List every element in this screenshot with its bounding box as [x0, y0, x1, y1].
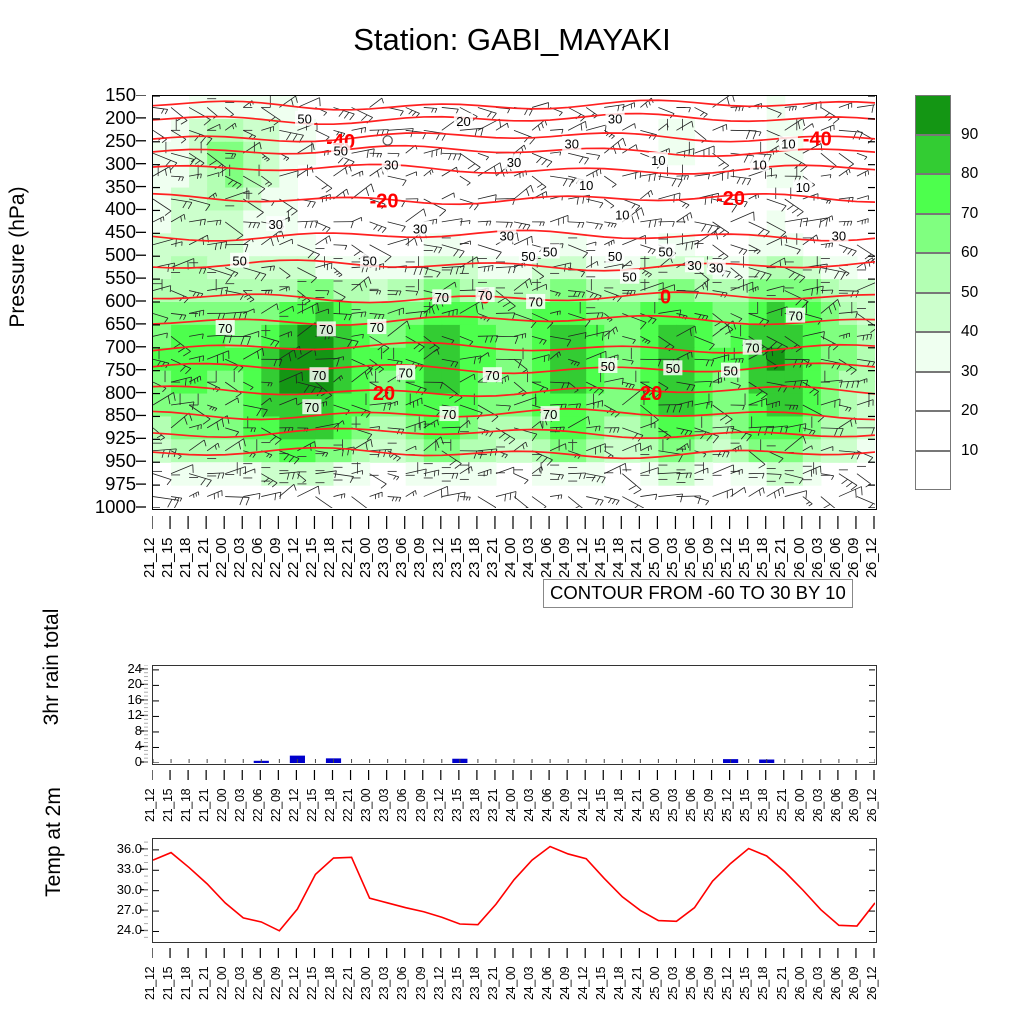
- colorbar-label: 40: [961, 323, 978, 341]
- svg-text:50: 50: [723, 363, 737, 378]
- colorbar-cell: [915, 293, 951, 333]
- time-tick-label: 23_12: [430, 538, 447, 578]
- time-tick-label: 23_21: [486, 789, 500, 822]
- time-tick-label: 21_21: [197, 967, 211, 1000]
- time-tick-label: 23_15: [448, 538, 465, 578]
- pressure-tick-label: 700: [105, 336, 136, 358]
- time-tick-label: 26_09: [845, 538, 862, 578]
- pressure-tick-label: 600: [105, 290, 136, 312]
- svg-text:70: 70: [398, 366, 412, 381]
- time-tick-label: 22_06: [249, 538, 266, 578]
- temp-xtick-marks: [152, 948, 877, 960]
- temp-xtick-labels: 21_1221_1521_1821_2122_0022_0322_0622_09…: [152, 948, 877, 1000]
- svg-text:10: 10: [651, 153, 665, 168]
- time-tick-label: 21_18: [179, 967, 193, 1000]
- time-tick-label: 23_09: [414, 789, 428, 822]
- time-tick-label: 24_15: [594, 967, 608, 1000]
- svg-text:70: 70: [442, 407, 456, 422]
- svg-text:30: 30: [709, 260, 723, 275]
- time-tick-label: 24_12: [576, 789, 590, 822]
- time-tick-label: 26_09: [847, 967, 861, 1000]
- pressure-tick-label: 300: [105, 153, 136, 175]
- time-tick-label: 22_18: [323, 789, 337, 822]
- svg-text:70: 70: [485, 368, 499, 383]
- time-tick-label: 24_00: [502, 538, 519, 578]
- time-tick-label: 21_21: [197, 789, 211, 822]
- time-tick-label: 25_15: [738, 967, 752, 1000]
- colorbar-cell: [915, 95, 951, 135]
- pressure-tick-label: 850: [105, 404, 136, 426]
- time-tick-label: 25_18: [756, 967, 770, 1000]
- svg-text:70: 70: [312, 368, 326, 383]
- svg-text:70: 70: [478, 288, 492, 303]
- svg-text:20: 20: [640, 383, 662, 405]
- colorbar-cell: [915, 253, 951, 293]
- time-tick-label: 21_15: [161, 967, 175, 1000]
- time-tick-label: 22_12: [287, 967, 301, 1000]
- colorbar-cell: [915, 451, 951, 491]
- pressure-tick-label: 500: [105, 244, 136, 266]
- time-tick-label: 26_03: [811, 789, 825, 822]
- time-tick-label: 23_21: [486, 967, 500, 1000]
- svg-text:70: 70: [788, 308, 802, 323]
- pressure-tick-label: 975: [105, 473, 136, 495]
- time-tick-label: 23_18: [466, 538, 483, 578]
- time-tick-label: 25_03: [666, 967, 680, 1000]
- time-tick-label: 24_06: [540, 967, 554, 1000]
- time-tick-label: 22_18: [321, 538, 338, 578]
- time-tick-label: 24_03: [520, 538, 537, 578]
- svg-text:30: 30: [687, 258, 701, 273]
- time-tick-label: 22_15: [305, 789, 319, 822]
- time-tick-label: 25_00: [646, 538, 663, 578]
- time-tick-label: 24_15: [592, 538, 609, 578]
- svg-text:50: 50: [297, 112, 311, 127]
- humidity-colorbar: 908070605040302010: [915, 95, 951, 490]
- time-tick-label: 22_00: [215, 789, 229, 822]
- temp-axis-title: Temp at 2m: [42, 702, 66, 982]
- time-tick-label: 22_09: [267, 538, 284, 578]
- svg-text:30: 30: [413, 221, 427, 236]
- temp-plot-svg: [153, 839, 875, 941]
- time-tick-label: 23_12: [432, 789, 446, 822]
- time-tick-label: 23_00: [359, 789, 373, 822]
- time-tick-label: 24_15: [594, 789, 608, 822]
- time-tick-label: 26_09: [847, 789, 861, 822]
- pressure-tick-label: 150: [105, 84, 136, 106]
- time-tick-label: 25_09: [702, 789, 716, 822]
- time-tick-label: 22_06: [251, 789, 265, 822]
- svg-text:-40: -40: [803, 128, 832, 150]
- time-tick-label: 26_00: [793, 967, 807, 1000]
- time-tick-label: 24_09: [558, 967, 572, 1000]
- time-tick-label: 23_06: [393, 538, 410, 578]
- time-tick-label: 22_21: [341, 789, 355, 822]
- temp-plot-frame: [152, 838, 877, 943]
- rain-xtick-marks: [152, 770, 877, 782]
- svg-text:50: 50: [658, 244, 672, 259]
- colorbar-label: 70: [961, 205, 978, 223]
- time-tick-label: 26_12: [865, 967, 879, 1000]
- svg-text:50: 50: [601, 359, 615, 374]
- main-plot-svg: -40-40-20-200020205050203030303030305050…: [153, 96, 875, 508]
- time-tick-label: 23_12: [432, 967, 446, 1000]
- colorbar-label: 20: [961, 402, 978, 420]
- time-tick-label: 21_15: [159, 538, 176, 578]
- time-tick-label: 26_00: [793, 789, 807, 822]
- time-tick-label: 23_03: [377, 967, 391, 1000]
- time-tick-label: 23_03: [375, 538, 392, 578]
- time-tick-label: 21_15: [161, 789, 175, 822]
- svg-text:30: 30: [832, 228, 846, 243]
- time-tick-label: 26_03: [811, 967, 825, 1000]
- rain-plot-frame: [152, 665, 877, 765]
- rain-tick-label: 4: [135, 738, 142, 753]
- rain-tick-label: 8: [135, 723, 142, 738]
- time-tick-label: 23_21: [484, 538, 501, 578]
- colorbar-label: 50: [961, 284, 978, 302]
- time-tick-label: 24_12: [574, 538, 591, 578]
- svg-text:-20: -20: [370, 191, 399, 213]
- temperature-chart-panel: [152, 838, 877, 943]
- main-xtick-marks: [152, 516, 877, 530]
- time-tick-label: 22_06: [251, 967, 265, 1000]
- temperature-line: [153, 846, 875, 930]
- time-tick-label: 25_09: [702, 967, 716, 1000]
- time-tick-label: 24_21: [630, 967, 644, 1000]
- svg-text:10: 10: [615, 208, 629, 223]
- pressure-tick-label: 400: [105, 198, 136, 220]
- svg-text:30: 30: [565, 137, 579, 152]
- rain-chart-panel: [152, 665, 877, 765]
- time-tick-label: 22_15: [303, 538, 320, 578]
- time-tick-label: 25_21: [775, 789, 789, 822]
- main-plot-frame: -40-40-20-200020205050203030303030305050…: [152, 95, 877, 510]
- time-tick-label: 25_21: [772, 538, 789, 578]
- time-tick-label: 23_18: [468, 789, 482, 822]
- rain-tick-label: 0: [135, 754, 142, 769]
- time-tick-label: 25_12: [720, 967, 734, 1000]
- time-tick-label: 26_06: [827, 538, 844, 578]
- time-tick-label: 21_21: [195, 538, 212, 578]
- time-tick-label: 25_18: [756, 789, 770, 822]
- time-tick-label: 21_12: [143, 789, 157, 822]
- time-tick-label: 22_12: [285, 538, 302, 578]
- time-tick-label: 25_12: [718, 538, 735, 578]
- time-tick-label: 25_18: [754, 538, 771, 578]
- time-tick-label: 26_12: [865, 789, 879, 822]
- time-tick-label: 22_00: [215, 967, 229, 1000]
- colorbar-cell: [915, 174, 951, 214]
- time-tick-label: 23_03: [377, 789, 391, 822]
- time-tick-label: 25_03: [664, 538, 681, 578]
- svg-text:30: 30: [608, 112, 622, 127]
- colorbar-label: 80: [961, 165, 978, 183]
- time-tick-label: 25_09: [700, 538, 717, 578]
- time-tick-label: 25_06: [684, 789, 698, 822]
- time-tick-label: 22_03: [233, 967, 247, 1000]
- main-xtick-labels: 21_1221_1521_1821_2122_0022_0322_0622_09…: [152, 516, 877, 578]
- colorbar-cell: [915, 372, 951, 412]
- time-tick-label: 24_09: [556, 538, 573, 578]
- time-tick-label: 26_03: [809, 538, 826, 578]
- time-tick-label: 22_09: [269, 967, 283, 1000]
- pressure-tick-label: 200: [105, 107, 136, 129]
- colorbar-label: 10: [961, 442, 978, 460]
- time-tick-label: 21_12: [143, 967, 157, 1000]
- svg-text:50: 50: [362, 253, 376, 268]
- pressure-tick-label: 925: [105, 427, 136, 449]
- time-tick-label: 22_00: [213, 538, 230, 578]
- svg-text:10: 10: [796, 180, 810, 195]
- time-tick-label: 25_00: [648, 967, 662, 1000]
- time-tick-label: 23_09: [414, 967, 428, 1000]
- time-tick-label: 24_12: [576, 967, 590, 1000]
- svg-text:50: 50: [622, 270, 636, 285]
- svg-text:10: 10: [752, 157, 766, 172]
- time-tick-label: 23_00: [357, 538, 374, 578]
- colorbar-cell: [915, 332, 951, 372]
- svg-text:0: 0: [660, 287, 671, 309]
- temp-tick-label: 33.0: [117, 861, 142, 876]
- svg-text:50: 50: [666, 361, 680, 376]
- time-tick-label: 24_18: [610, 538, 627, 578]
- rain-tick-label: 12: [128, 707, 142, 722]
- temp-tick-label: 27.0: [117, 902, 142, 917]
- svg-text:-20: -20: [716, 188, 745, 210]
- temp-tick-label: 24.0: [117, 922, 142, 937]
- time-tick-label: 24_03: [522, 967, 536, 1000]
- svg-text:50: 50: [608, 249, 622, 264]
- pressure-tick-label: 750: [105, 359, 136, 381]
- rain-tick-label: 16: [128, 692, 142, 707]
- svg-text:20: 20: [373, 383, 395, 405]
- time-tick-label: 25_00: [648, 789, 662, 822]
- svg-text:70: 70: [435, 290, 449, 305]
- time-tick-label: 23_15: [450, 789, 464, 822]
- svg-text:50: 50: [521, 249, 535, 264]
- time-tick-label: 25_15: [738, 789, 752, 822]
- pressure-axis-title: Pressure (hPa): [6, 147, 30, 367]
- pressure-tick-label: 950: [105, 450, 136, 472]
- colorbar-cell: [915, 411, 951, 451]
- pressure-tick-label: 450: [105, 221, 136, 243]
- svg-text:20: 20: [456, 114, 470, 129]
- humidity-cross-section-panel: -40-40-20-200020205050203030303030305050…: [152, 95, 877, 510]
- svg-text:70: 70: [528, 295, 542, 310]
- svg-text:50: 50: [232, 253, 246, 268]
- colorbar-label: 30: [961, 363, 978, 381]
- time-tick-label: 23_15: [450, 967, 464, 1000]
- svg-text:30: 30: [500, 228, 514, 243]
- svg-text:30: 30: [269, 217, 283, 232]
- time-tick-label: 24_03: [522, 789, 536, 822]
- colorbar-cell: [915, 135, 951, 175]
- time-tick-label: 24_21: [628, 538, 645, 578]
- svg-text:10: 10: [781, 137, 795, 152]
- time-tick-label: 21_18: [177, 538, 194, 578]
- contour-range-note: CONTOUR FROM -60 TO 30 BY 10: [543, 579, 853, 608]
- colorbar-label: 60: [961, 244, 978, 262]
- time-tick-label: 25_15: [736, 538, 753, 578]
- temp-tick-label: 36.0: [117, 841, 142, 856]
- time-tick-label: 24_09: [558, 789, 572, 822]
- time-tick-label: 22_12: [287, 789, 301, 822]
- pressure-tick-label: 800: [105, 382, 136, 404]
- page-title: Station: GABI_MAYAKI: [0, 22, 1024, 58]
- svg-text:50: 50: [333, 144, 347, 159]
- time-tick-label: 24_00: [504, 967, 518, 1000]
- time-tick-label: 23_00: [359, 967, 373, 1000]
- time-tick-label: 26_12: [863, 538, 880, 578]
- pressure-tick-label: 550: [105, 267, 136, 289]
- time-tick-label: 23_06: [395, 967, 409, 1000]
- time-tick-label: 22_03: [233, 789, 247, 822]
- svg-text:70: 70: [305, 400, 319, 415]
- time-tick-label: 24_21: [630, 789, 644, 822]
- time-tick-label: 22_21: [339, 538, 356, 578]
- svg-text:70: 70: [218, 321, 232, 336]
- time-tick-label: 24_18: [612, 789, 626, 822]
- time-tick-label: 22_18: [323, 967, 337, 1000]
- time-tick-label: 26_00: [791, 538, 808, 578]
- time-tick-label: 25_21: [775, 967, 789, 1000]
- rain-plot-svg: [153, 666, 875, 763]
- rain-xtick-labels: 21_1221_1521_1821_2122_0022_0322_0622_09…: [152, 770, 877, 822]
- marker-circle: [383, 136, 392, 145]
- svg-text:70: 70: [319, 322, 333, 337]
- time-tick-label: 24_06: [538, 538, 555, 578]
- main-ytick-labels: 1502002503003504004505005506006507007508…: [60, 95, 146, 510]
- svg-text:70: 70: [543, 407, 557, 422]
- rain-tick-label: 24: [128, 661, 142, 676]
- time-tick-label: 24_06: [540, 789, 554, 822]
- time-tick-label: 25_06: [684, 967, 698, 1000]
- svg-text:70: 70: [370, 320, 384, 335]
- time-tick-label: 21_12: [141, 538, 158, 578]
- pressure-tick-label: 250: [105, 130, 136, 152]
- time-tick-label: 26_06: [829, 789, 843, 822]
- temp-tick-label: 30.0: [117, 882, 142, 897]
- time-tick-label: 22_21: [341, 967, 355, 1000]
- time-tick-label: 22_09: [269, 789, 283, 822]
- time-tick-label: 26_06: [829, 967, 843, 1000]
- time-tick-label: 23_18: [468, 967, 482, 1000]
- colorbar-cell: [915, 214, 951, 254]
- svg-text:70: 70: [745, 340, 759, 355]
- colorbar-label: 90: [961, 126, 978, 144]
- pressure-tick-label: 650: [105, 313, 136, 335]
- time-tick-label: 23_09: [411, 538, 428, 578]
- time-tick-label: 25_03: [666, 789, 680, 822]
- pressure-tick-label: 1000: [95, 496, 136, 518]
- svg-text:30: 30: [384, 157, 398, 172]
- time-tick-label: 22_03: [231, 538, 248, 578]
- time-tick-label: 23_06: [395, 789, 409, 822]
- svg-text:10: 10: [579, 178, 593, 193]
- time-tick-label: 25_06: [682, 538, 699, 578]
- time-tick-label: 22_15: [305, 967, 319, 1000]
- time-tick-label: 24_18: [612, 967, 626, 1000]
- time-tick-label: 21_18: [179, 789, 193, 822]
- rain-ytick-labels: 04812162024: [92, 665, 148, 765]
- time-tick-label: 24_00: [504, 789, 518, 822]
- pressure-tick-label: 350: [105, 176, 136, 198]
- rain-tick-label: 20: [128, 676, 142, 691]
- svg-text:50: 50: [543, 244, 557, 259]
- svg-text:30: 30: [507, 155, 521, 170]
- time-tick-label: 25_12: [720, 789, 734, 822]
- temp-ytick-labels: 24.027.030.033.036.0: [86, 838, 148, 943]
